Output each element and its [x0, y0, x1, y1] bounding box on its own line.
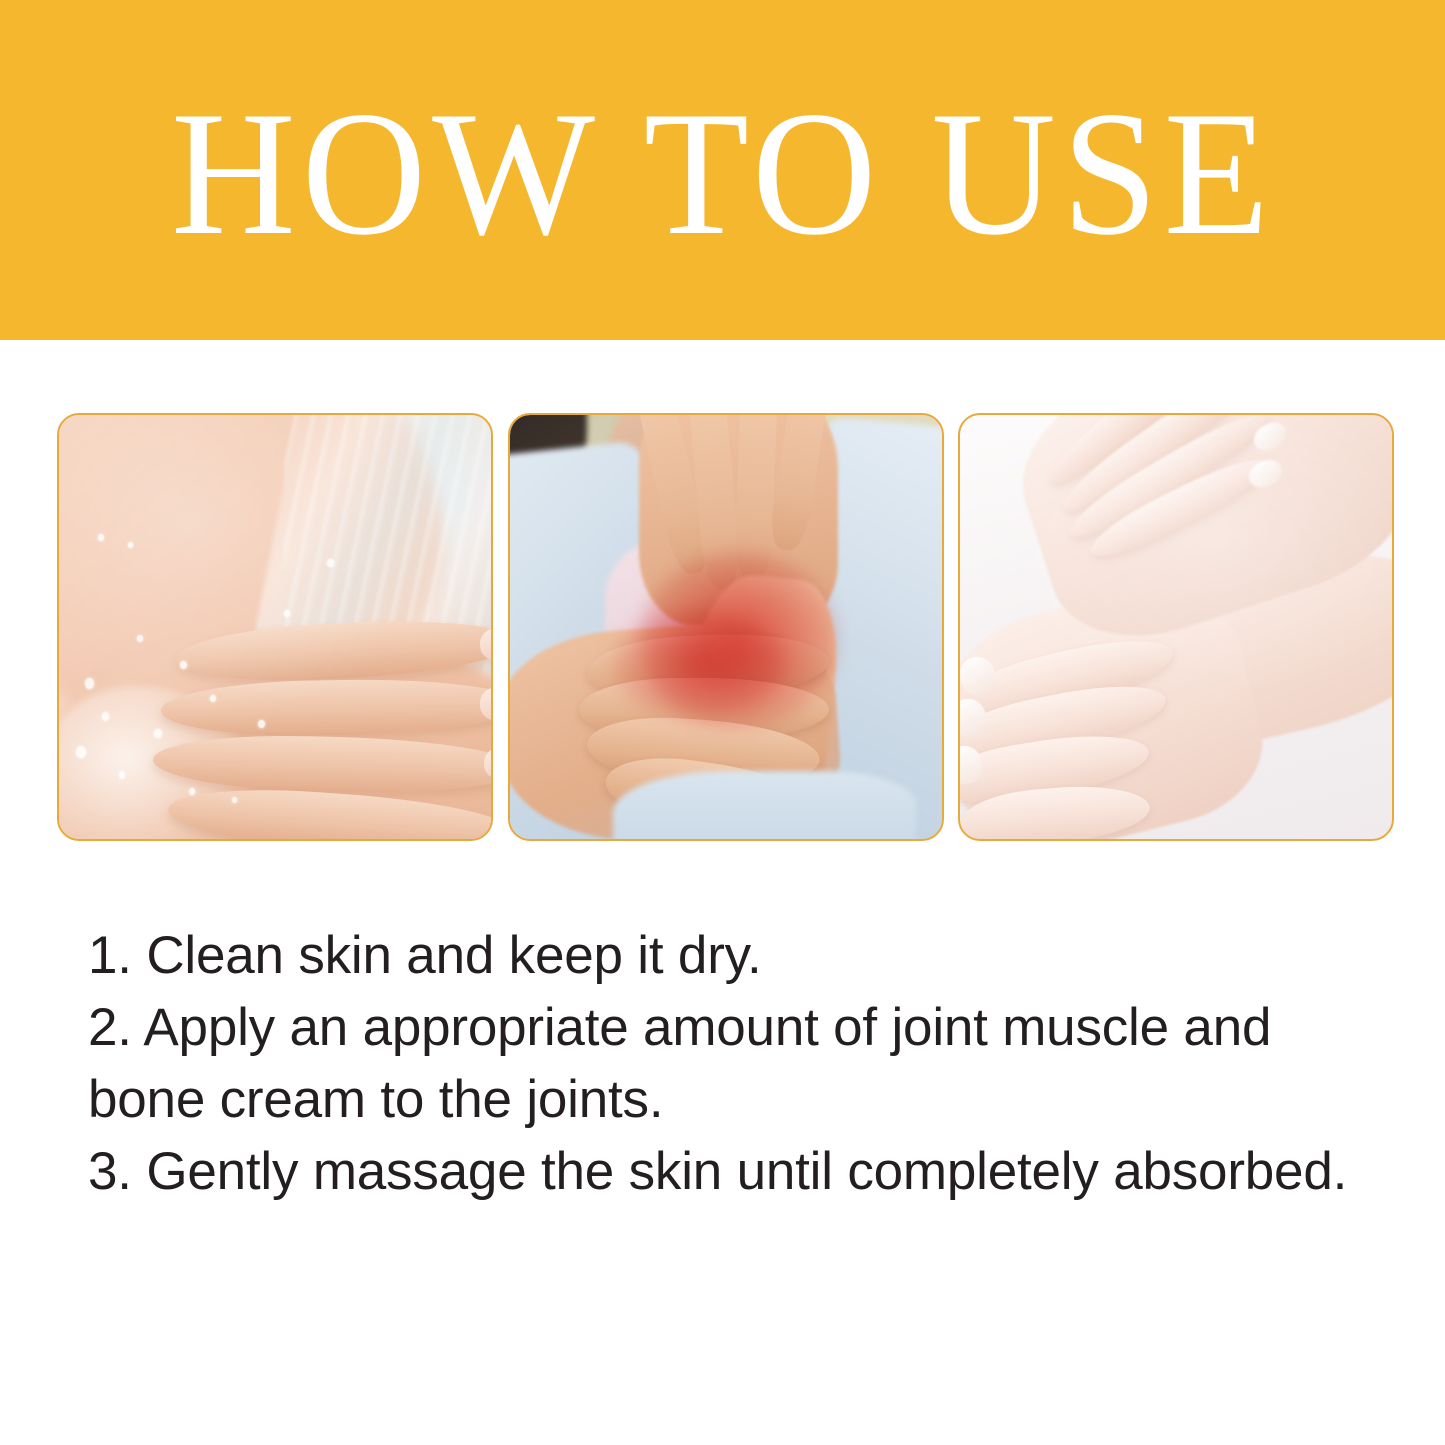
photo-3-canvas — [960, 415, 1392, 839]
photo-row — [57, 413, 1394, 837]
photo-3-highlight — [960, 415, 1392, 839]
sleeve-bottom-shape — [613, 771, 915, 839]
how-to-use-infographic: HOW TO USE — [0, 0, 1445, 1445]
clean-skin-with-water-photo — [57, 413, 493, 841]
photo-1-canvas — [59, 415, 491, 839]
pain-highlight-secondary — [613, 610, 786, 720]
photo-2-canvas — [510, 415, 942, 839]
instruction-step-3: 3. Gently massage the skin until complet… — [88, 1136, 1358, 1208]
page-title: HOW TO USE — [171, 84, 1275, 262]
instruction-step-2: 2. Apply an appropriate amount of joint … — [88, 992, 1358, 1136]
joint-pain-wrist-photo — [508, 413, 944, 841]
instruction-list: 1. Clean skin and keep it dry. 2. Apply … — [88, 920, 1358, 1208]
photo-1-highlight — [59, 415, 491, 839]
massage-hands-photo — [958, 413, 1394, 841]
header-band: HOW TO USE — [0, 0, 1445, 340]
instruction-step-1: 1. Clean skin and keep it dry. — [88, 920, 1358, 992]
